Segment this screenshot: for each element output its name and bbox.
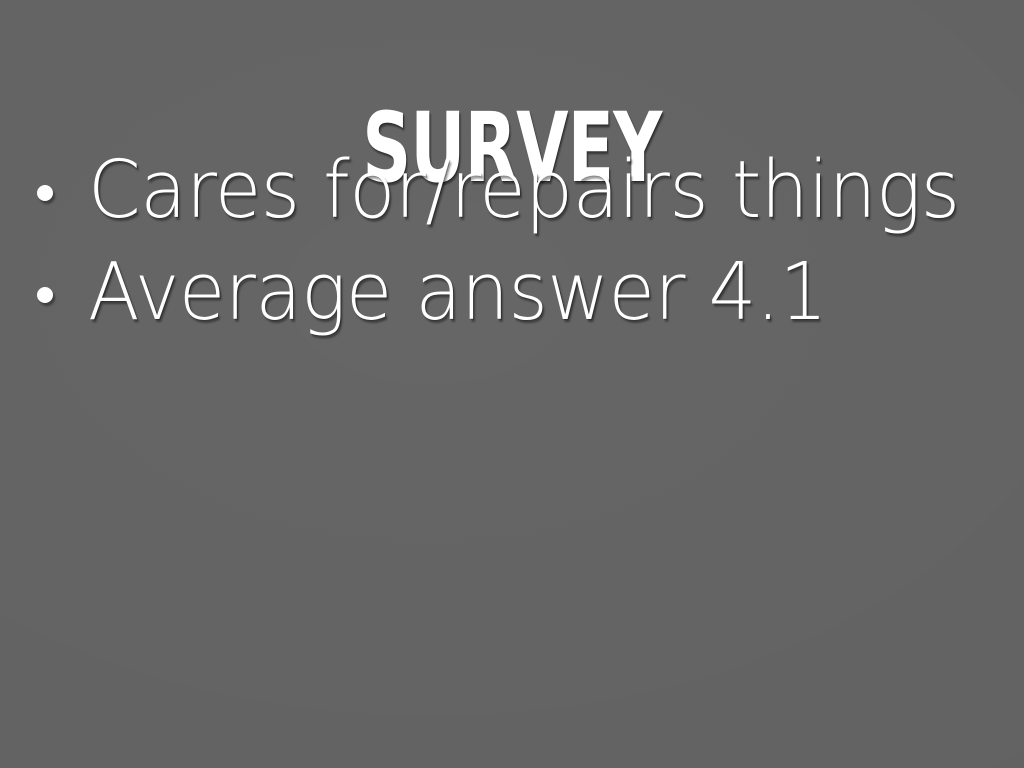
list-item-label: Cares for/repairs things bbox=[88, 150, 960, 230]
list-item: Cares for/repairs things bbox=[30, 150, 994, 252]
presentation-slide: SURVEY Cares for/repairs things Average … bbox=[0, 0, 1024, 768]
list-item: Average answer 4.1 bbox=[30, 252, 994, 354]
slide-empty-area bbox=[0, 360, 1024, 768]
bullet-list: Cares for/repairs things Average answer … bbox=[30, 150, 994, 354]
bullet-dot-icon bbox=[30, 150, 88, 230]
bullet-dot-icon bbox=[30, 252, 88, 332]
list-item-label: Average answer 4.1 bbox=[88, 252, 953, 332]
